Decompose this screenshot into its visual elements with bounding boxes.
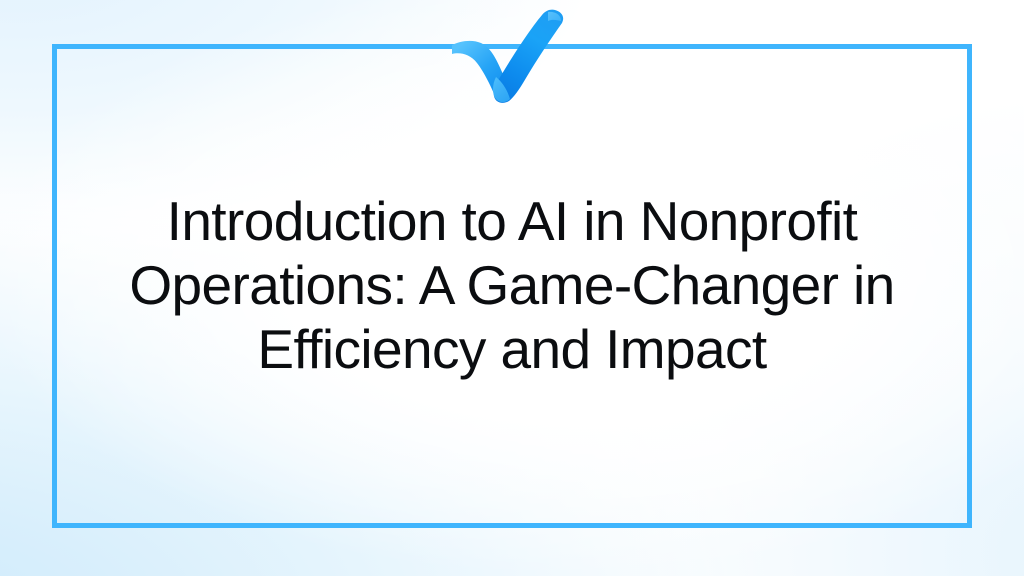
page-title: Introduction to AI in Nonprofit Operatio… xyxy=(112,190,912,381)
title-container: Introduction to AI in Nonprofit Operatio… xyxy=(52,44,972,528)
title-slide: Introduction to AI in Nonprofit Operatio… xyxy=(0,0,1024,576)
